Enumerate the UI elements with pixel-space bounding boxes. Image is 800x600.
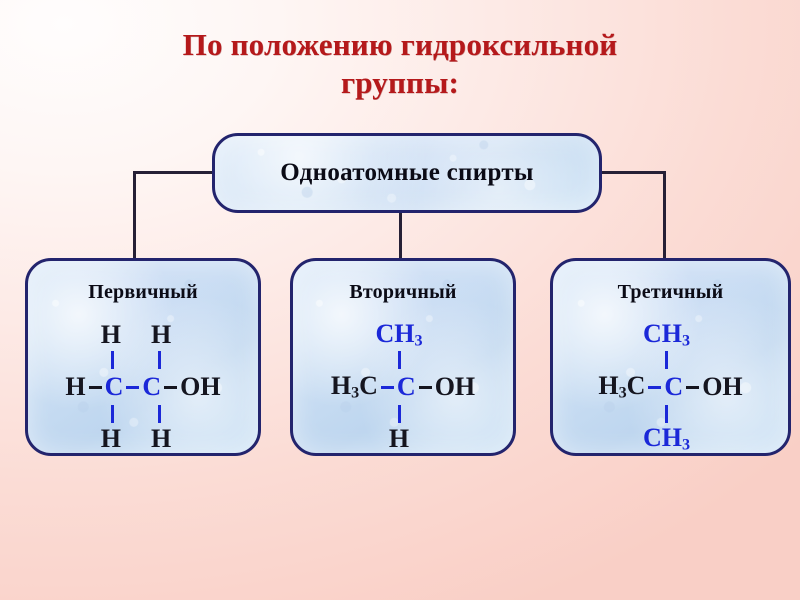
bond-c1-to-c2	[126, 386, 139, 389]
bond-vertical-bottom	[398, 405, 401, 423]
bond-ch3-to-c	[381, 386, 394, 389]
molecule-tertiary: CH3 H3C C OH CH3	[553, 320, 788, 454]
molecule-row-bottom-bonds	[336, 404, 470, 424]
atom-hydroxyl-group: OH	[702, 374, 742, 400]
molecule-row-bottom: CH3	[589, 424, 752, 454]
root-node-monohydric-alcohols[interactable]: Одноатомные спирты	[212, 133, 602, 213]
title-line-1: По положению гидроксильной	[183, 27, 618, 62]
atom-left-methyl: H3C	[331, 373, 378, 402]
atom-carbon-1: C	[105, 374, 124, 400]
atom-top-methyl: CH3	[643, 321, 690, 350]
bond-vertical-bottom	[665, 405, 668, 423]
molecule-row-main: H3C C OH	[598, 370, 742, 404]
atom-top-methyl-subscript: 3	[682, 332, 690, 349]
connector-left-horizontal	[133, 171, 215, 174]
molecule-row-main: H3C C OH	[331, 370, 475, 404]
bond-vertical-top	[398, 351, 401, 369]
atom-top-right-h: H	[151, 322, 171, 348]
connector-center-vertical	[399, 205, 402, 261]
molecule-row-bottom-bonds	[66, 404, 220, 424]
bond-vertical-top-left	[111, 351, 114, 369]
atom-left-methyl-subscript: 3	[351, 384, 359, 401]
molecule-row-top-bonds	[66, 350, 220, 370]
title-line-2: группы:	[60, 64, 740, 102]
atom-top-methyl-subscript: 3	[414, 332, 422, 349]
molecule-row-top-bonds	[604, 350, 738, 370]
bond-c-to-oh	[686, 386, 699, 389]
connector-right-horizontal	[594, 171, 666, 174]
atom-left-methyl: H3C	[598, 373, 645, 402]
atom-top-left-h: H	[101, 322, 121, 348]
page-title: По положению гидроксильной группы:	[60, 26, 740, 102]
atom-bottom-left-h: H	[101, 426, 121, 452]
bond-c2-to-oh	[164, 386, 177, 389]
molecule-row-top-bonds	[336, 350, 470, 370]
connector-right-vertical	[663, 171, 666, 261]
bond-vertical-top-right	[158, 351, 161, 369]
atom-hydroxyl-group: OH	[180, 374, 220, 400]
bond-vertical-bottom-right	[158, 405, 161, 423]
atom-central-carbon: C	[397, 374, 416, 400]
bond-vertical-top	[665, 351, 668, 369]
molecule-row-main: H C C OH	[65, 370, 220, 404]
molecule-row-top: CH3	[589, 320, 752, 350]
atom-bottom-methyl-subscript: 3	[682, 436, 690, 453]
molecule-row-bottom: H	[335, 424, 471, 454]
atom-bottom-methyl: CH3	[643, 425, 690, 454]
bond-c-to-oh	[419, 386, 432, 389]
root-node-label: Одноатомные спирты	[280, 159, 533, 187]
category-box-secondary[interactable]: Вторичный CH3 H3C C OH	[290, 258, 516, 456]
atom-central-carbon: C	[664, 374, 683, 400]
atom-bottom-h: H	[389, 426, 409, 452]
bond-ch3-to-c	[648, 386, 661, 389]
molecule-row-top: H H	[63, 320, 223, 350]
category-box-tertiary[interactable]: Третичный CH3 H3C C OH	[550, 258, 791, 456]
connector-left-vertical	[133, 171, 136, 261]
atom-left-methyl-subscript: 3	[619, 384, 627, 401]
molecule-row-bottom-bonds	[604, 404, 738, 424]
category-label-tertiary: Третичный	[553, 281, 788, 304]
diagram-canvas: По положению гидроксильной группы: Одноа…	[0, 0, 800, 600]
atom-left-terminal-h: H	[65, 374, 85, 400]
molecule-row-top: CH3	[321, 320, 484, 350]
molecule-primary: H H H C C OH	[28, 320, 258, 454]
bond-vertical-bottom-left	[111, 405, 114, 423]
atom-carbon-2: C	[142, 374, 161, 400]
molecule-secondary: CH3 H3C C OH H	[293, 320, 513, 454]
category-label-secondary: Вторичный	[293, 281, 513, 304]
atom-hydroxyl-group: OH	[435, 374, 475, 400]
category-label-primary: Первичный	[28, 281, 258, 304]
atom-top-methyl: CH3	[375, 321, 422, 350]
atom-bottom-right-h: H	[151, 426, 171, 452]
bond-h-to-c1	[89, 386, 102, 389]
molecule-row-bottom: H H	[63, 424, 223, 454]
category-box-primary[interactable]: Первичный H H H C C	[25, 258, 261, 456]
